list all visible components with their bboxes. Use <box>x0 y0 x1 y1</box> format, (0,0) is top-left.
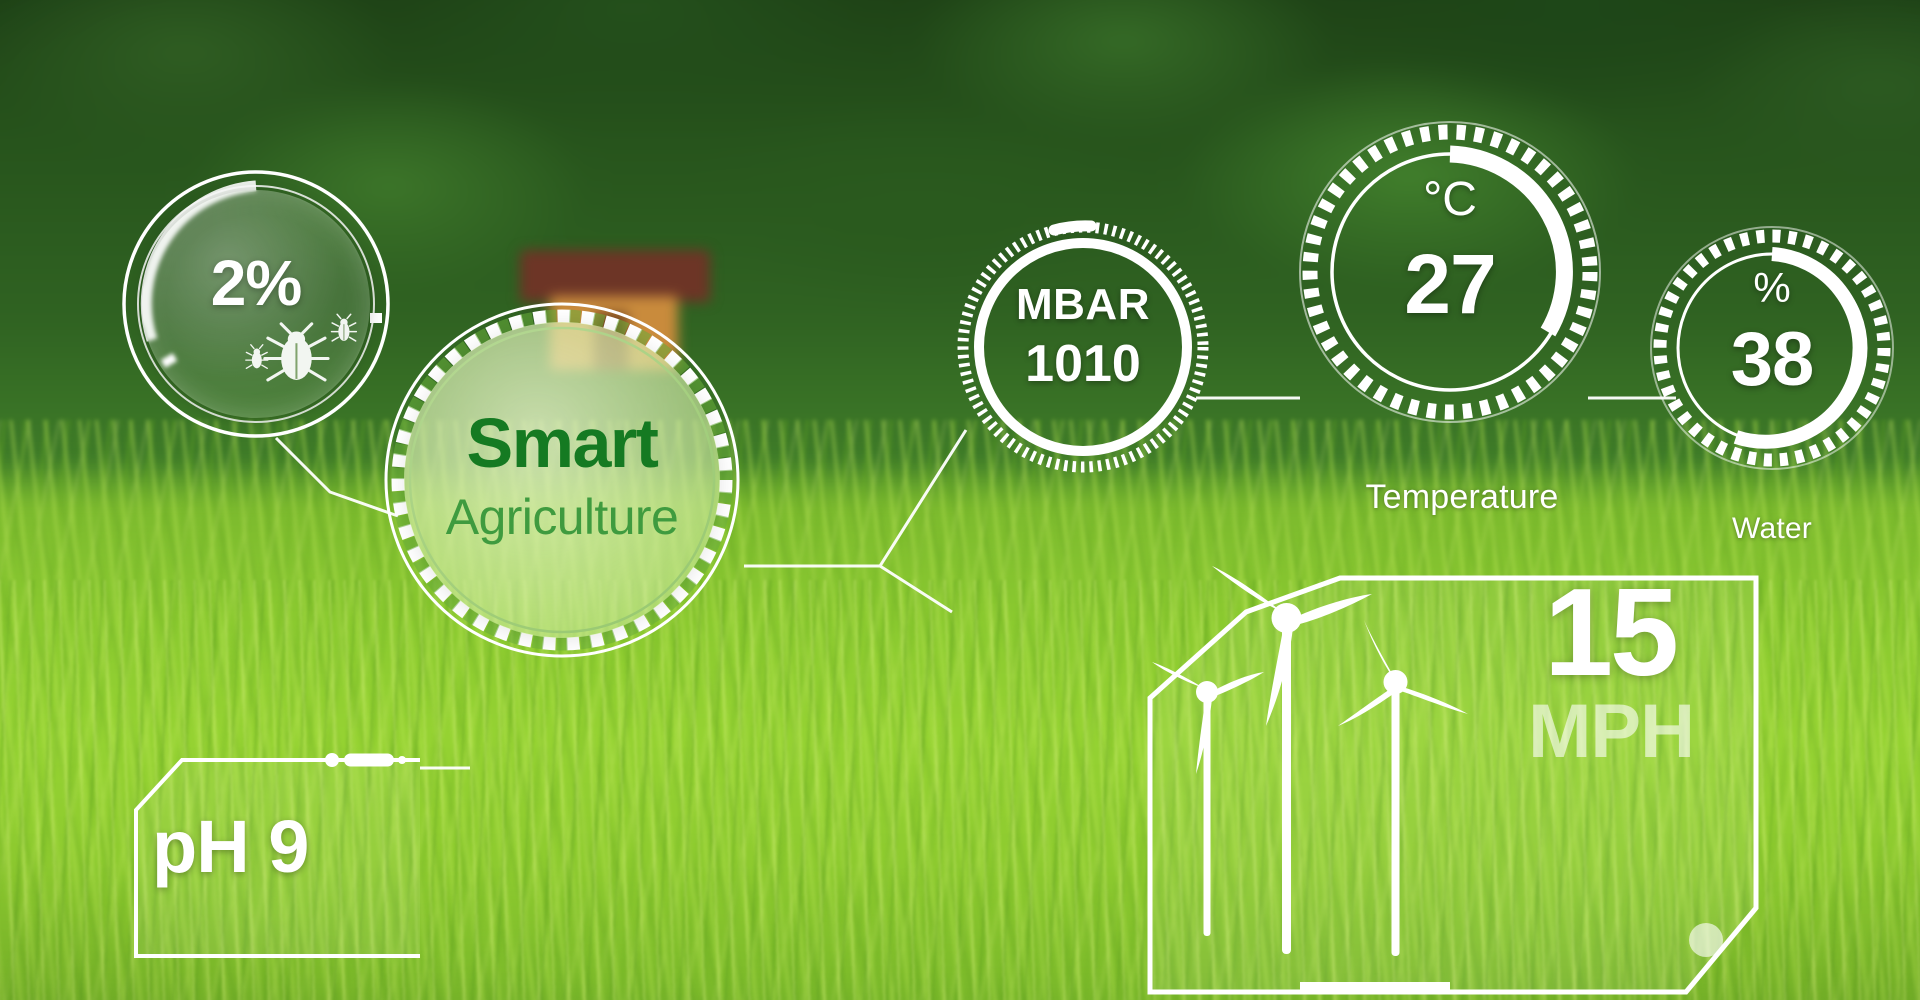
pest-gauge[interactable]: 2% <box>120 168 392 440</box>
pest-value: 2% <box>120 246 392 320</box>
temperature-value: 27 <box>1298 236 1602 333</box>
temperature-unit: °C <box>1298 172 1602 227</box>
water-unit: % <box>1650 264 1894 312</box>
smart-agriculture-badge[interactable]: Smart Agriculture <box>382 300 742 660</box>
wind-value: 15 <box>1544 562 1676 704</box>
pressure-gauge[interactable]: MBAR 1010 <box>958 222 1208 472</box>
badge-title-line2: Agriculture <box>382 492 742 542</box>
pressure-value: 1010 <box>958 334 1208 394</box>
ph-value: pH 9 <box>152 804 308 889</box>
wind-panel[interactable]: 15 MPH <box>1150 578 1760 996</box>
pressure-unit: MBAR <box>958 280 1208 330</box>
insects-icon <box>248 314 368 386</box>
temperature-gauge[interactable]: °C 27 <box>1298 120 1602 424</box>
ph-panel[interactable]: pH 9 <box>118 752 420 964</box>
smart-agriculture-overlay: 2% <box>0 0 1920 1000</box>
badge-title-line1: Smart <box>382 408 742 478</box>
water-label: Water <box>1650 512 1894 546</box>
water-gauge[interactable]: % 38 <box>1650 226 1894 470</box>
water-value: 38 <box>1650 316 1894 403</box>
wind-turbine-icon <box>1158 560 1518 980</box>
wind-unit: MPH <box>1528 688 1694 775</box>
temperature-label: Temperature <box>1310 478 1614 517</box>
